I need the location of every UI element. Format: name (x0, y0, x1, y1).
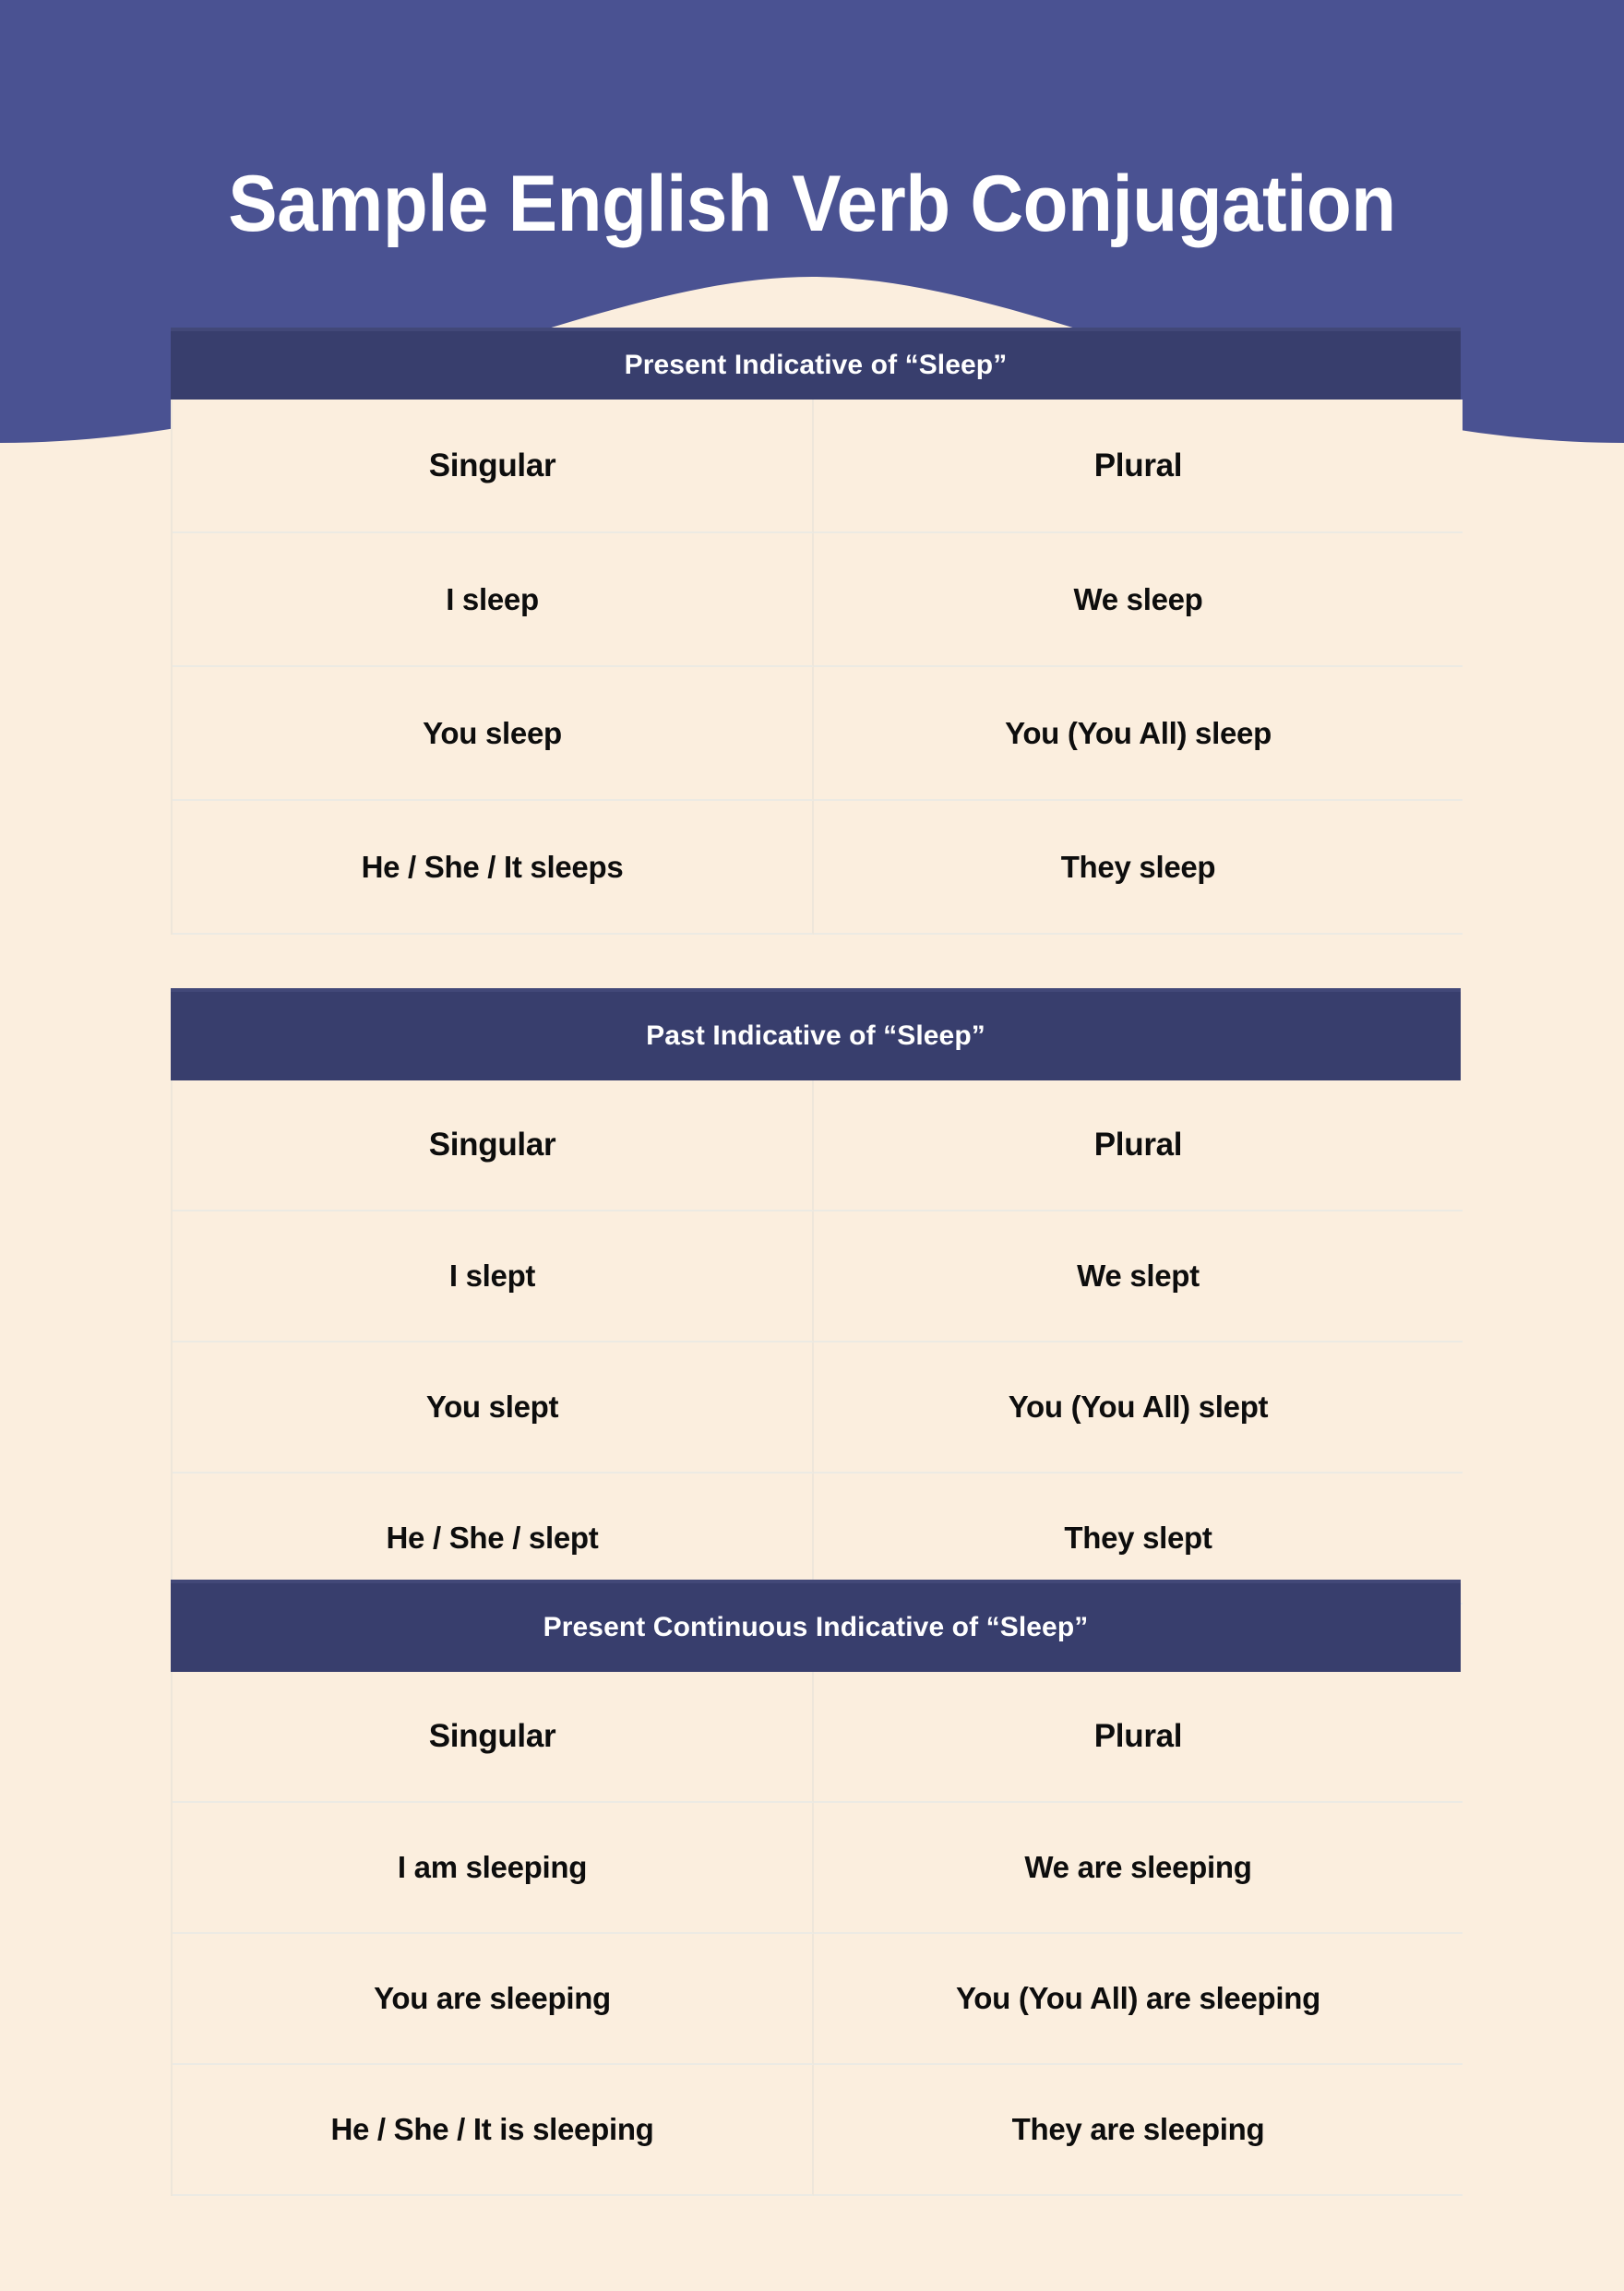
table-grid-present: Singular Plural I sleep We sleep You sle… (171, 400, 1461, 935)
table-row: We sleep (814, 533, 1463, 667)
conjugation-table-present: Present Indicative of “Sleep” Singular P… (171, 328, 1461, 935)
table-row: Singular (173, 1080, 814, 1211)
table-header-present-continuous: Present Continuous Indicative of “Sleep” (171, 1580, 1461, 1672)
table-header-present: Present Indicative of “Sleep” (171, 328, 1461, 400)
table-row: You (You All) are sleeping (814, 1934, 1463, 2065)
table-row: Plural (814, 400, 1463, 533)
table-row: He / She / It is sleeping (173, 2065, 814, 2196)
table-row: Singular (173, 1672, 814, 1803)
table-row: They are sleeping (814, 2065, 1463, 2196)
table-row: I sleep (173, 533, 814, 667)
table-row: We are sleeping (814, 1803, 1463, 1934)
conjugation-table-present-continuous: Present Continuous Indicative of “Sleep”… (171, 1580, 1461, 2196)
table-grid-present-continuous: Singular Plural I am sleeping We are sle… (171, 1672, 1461, 2196)
table-header-past: Past Indicative of “Sleep” (171, 988, 1461, 1080)
table-row: We slept (814, 1211, 1463, 1342)
table-row: Plural (814, 1672, 1463, 1803)
table-row: I am sleeping (173, 1803, 814, 1934)
table-grid-past: Singular Plural I slept We slept You sle… (171, 1080, 1461, 1605)
table-row: You sleep (173, 667, 814, 801)
table-row: Plural (814, 1080, 1463, 1211)
page-title: Sample English Verb Conjugation (57, 162, 1568, 245)
table-row: You (You All) slept (814, 1342, 1463, 1474)
table-row: You slept (173, 1342, 814, 1474)
table-row: I slept (173, 1211, 814, 1342)
table-row: He / She / It sleeps (173, 801, 814, 935)
conjugation-table-past: Past Indicative of “Sleep” Singular Plur… (171, 988, 1461, 1605)
table-row: You are sleeping (173, 1934, 814, 2065)
table-row: You (You All) sleep (814, 667, 1463, 801)
table-row: Singular (173, 400, 814, 533)
table-row: They sleep (814, 801, 1463, 935)
